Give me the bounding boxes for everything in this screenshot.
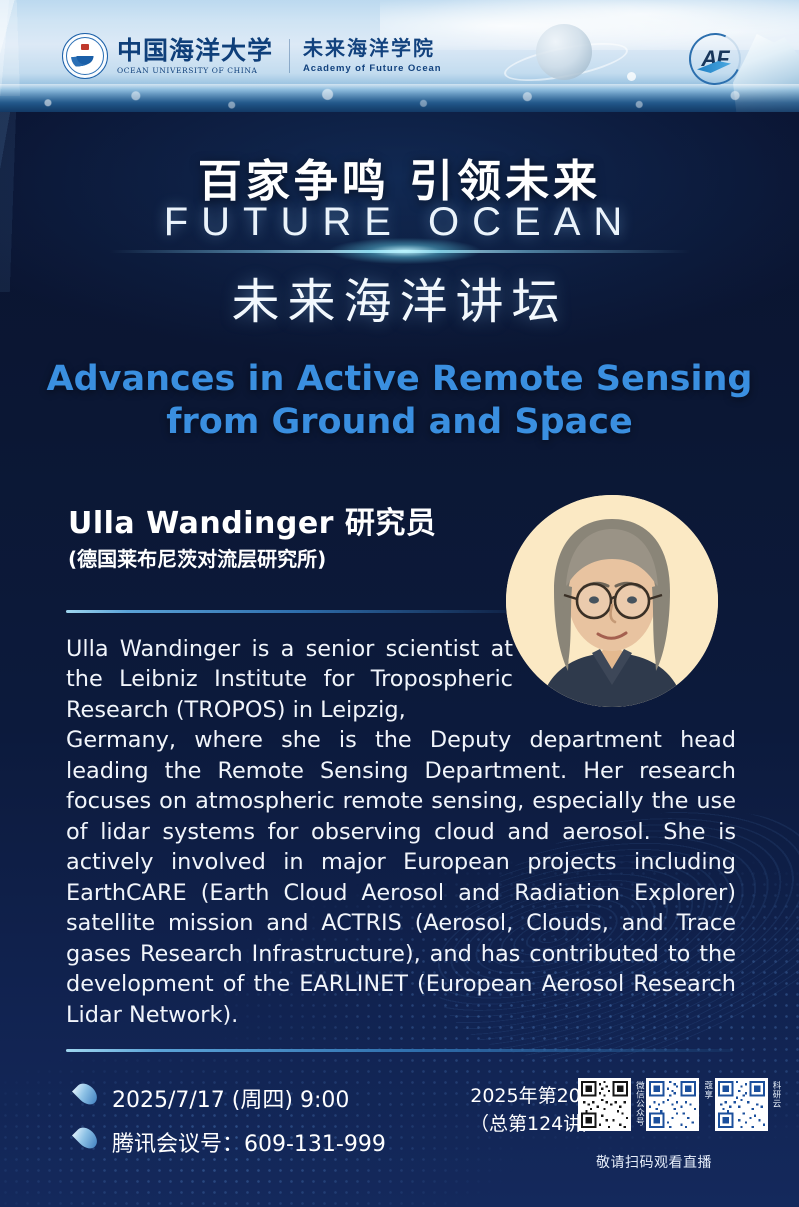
qr-label-research-cloud: 科研云 [771, 1081, 780, 1128]
speaker-bio: Ulla Wandinger is a senior scientist at … [66, 634, 736, 1030]
speaker-name: Ulla Wandinger 研究员 [68, 498, 436, 542]
seal-wave-icon [71, 56, 99, 70]
qr-item-koushare[interactable]: 蔻享 [646, 1078, 714, 1131]
bubbles-decoration [0, 86, 799, 114]
university-name-cn: 中国海洋大学 [117, 38, 273, 63]
scan-to-watch-note: 敬请扫码观看直播 [596, 1152, 712, 1172]
qr-glyph [649, 1081, 696, 1128]
qr-item-research-cloud[interactable]: 科研云 [715, 1078, 783, 1131]
academy-name-en: Academy of Future Ocean [303, 63, 441, 74]
lecture-poster: 中国海洋大学 OCEAN UNIVERSITY OF CHINA 未来海洋学院 … [0, 0, 799, 1207]
lecture-title: Advances in Active Remote Sensing from G… [46, 358, 753, 443]
qr-code-koushare[interactable] [646, 1078, 699, 1131]
meeting-id: 腾讯会议号：609-131-999 [112, 1126, 386, 1158]
lecture-datetime: 2025/7/17 (周四) 9:00 [112, 1082, 349, 1114]
glow-highlight [330, 238, 480, 264]
seal-emblem-icon [81, 44, 89, 50]
university-name-en: OCEAN UNIVERSITY OF CHINA [117, 66, 273, 75]
university-names: 中国海洋大学 OCEAN UNIVERSITY OF CHINA [117, 38, 273, 75]
qr-code-wechat[interactable] [578, 1078, 631, 1131]
bio-second-paragraph: Germany, where she is the Deputy departm… [66, 727, 736, 1027]
ouc-seal-icon [62, 33, 108, 79]
qr-label-koushare: 蔻享 [702, 1081, 711, 1128]
planet-icon [536, 24, 592, 80]
poster-header: 中国海洋大学 OCEAN UNIVERSITY OF CHINA 未来海洋学院 … [0, 0, 799, 118]
university-logo-lockup: 中国海洋大学 OCEAN UNIVERSITY OF CHINA 未来海洋学院 … [62, 33, 441, 79]
af-monogram: AF [689, 33, 741, 85]
af-logo: AF [689, 33, 741, 85]
qr-code-research-cloud[interactable] [715, 1078, 768, 1131]
logo-divider [289, 39, 290, 73]
academy-names: 未来海洋学院 Academy of Future Ocean [303, 39, 441, 74]
footer-divider [66, 1049, 733, 1052]
speaker-divider [66, 610, 506, 613]
moon-icon [627, 72, 636, 81]
qr-item-wechat[interactable]: 微信公众号 [578, 1078, 646, 1131]
qr-glyph [718, 1081, 765, 1128]
forum-title-cn: 未来海洋讲坛 [0, 262, 799, 332]
bio-first-paragraph: Ulla Wandinger is a senior scientist at … [66, 634, 513, 725]
qr-code-row: 微信公众号 [578, 1078, 783, 1131]
qr-glyph [581, 1081, 628, 1128]
qr-label-wechat: 微信公众号 [634, 1081, 643, 1128]
academy-name-cn: 未来海洋学院 [303, 39, 441, 59]
speaker-affiliation: (德国莱布尼茨对流层研究所) [68, 543, 326, 572]
